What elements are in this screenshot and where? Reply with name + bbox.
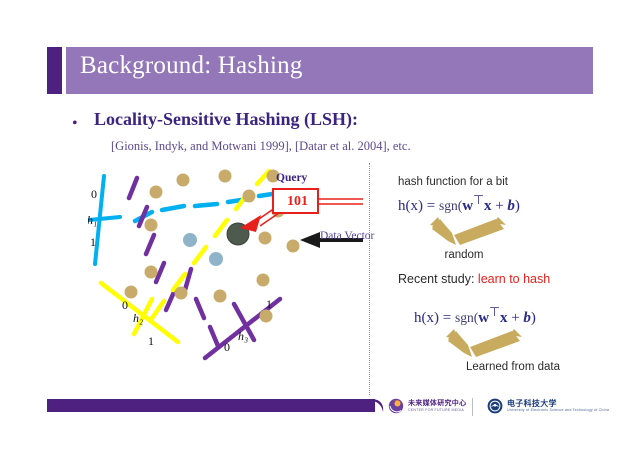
cfm-swirl-icon bbox=[388, 398, 404, 414]
learn-to-hash-panel: h(x) = sgn(w⊤x + b) Learned from data bbox=[398, 300, 628, 373]
logo1-chinese-name: 未来媒体研究中心 bbox=[408, 400, 466, 408]
formula2-w: w bbox=[478, 310, 489, 326]
formula2-lhs: h(x) bbox=[414, 310, 439, 326]
formula2-eq: = bbox=[443, 310, 451, 326]
hash-function-panel: hash function for a bit h(x) = sgn(w⊤x +… bbox=[398, 176, 628, 261]
learned-from-data-label: Learned from data bbox=[428, 361, 598, 373]
h3-bit-0: 0 bbox=[224, 340, 230, 354]
query-code-box: 101 bbox=[272, 188, 319, 214]
data-vector-label: Data Vector bbox=[320, 230, 374, 242]
bullet-heading: Locality-Sensitive Hashing (LSH): bbox=[94, 109, 358, 130]
logo2-english-name: University of Electronic Science and Tec… bbox=[507, 408, 609, 413]
citation-text: [Gionis, Indyk, and Motwani 1999], [Data… bbox=[111, 139, 411, 154]
formula2-close: ) bbox=[531, 310, 536, 326]
formula-lhs: h(x) bbox=[398, 198, 423, 214]
formula-x: x bbox=[484, 198, 492, 214]
logo1-english-name: CENTER FOR FUTURE MEDIA bbox=[408, 408, 466, 413]
formula-eq: = bbox=[427, 198, 435, 214]
logo-separator bbox=[472, 398, 473, 416]
vertical-divider bbox=[369, 163, 370, 395]
recent-study-line: Recent study: learn to hash bbox=[398, 272, 550, 286]
formula-sgn: sgn( bbox=[439, 198, 462, 213]
title-accent-bar bbox=[47, 47, 62, 94]
hash-function-caption: hash function for a bit bbox=[398, 176, 628, 188]
learn-to-hash-highlight: learn to hash bbox=[478, 272, 550, 286]
logo-center-for-future-media: 未来媒体研究中心 CENTER FOR FUTURE MEDIA bbox=[388, 398, 466, 414]
learned-arrows bbox=[414, 327, 628, 361]
query-label: Query bbox=[276, 172, 307, 184]
h3-bit-1: 1 bbox=[266, 297, 272, 311]
random-arrows bbox=[398, 215, 628, 249]
formula2-x: x bbox=[500, 310, 508, 326]
random-label: random bbox=[404, 249, 524, 261]
title-bar: Background: Hashing bbox=[66, 47, 593, 94]
h2-bit-1: 1 bbox=[148, 334, 154, 348]
formula2-b: b bbox=[523, 310, 531, 326]
formula-w: w bbox=[462, 198, 473, 214]
recent-study-prefix: Recent study: bbox=[398, 272, 474, 286]
hash-formula-learned: h(x) = sgn(w⊤x + b) bbox=[414, 304, 628, 327]
h1-bit-0: 0 bbox=[91, 187, 97, 201]
footer-bar bbox=[47, 399, 375, 412]
query-code: 101 bbox=[274, 190, 321, 216]
formula-plus: + bbox=[495, 198, 503, 214]
h1-bit-1: 1 bbox=[90, 235, 96, 249]
slide: Background: Hashing • Locality-Sensitive… bbox=[0, 0, 640, 452]
lsh-diagram: 0 1 h₁ 0 1 h₂ 1 0 h₃ bbox=[88, 168, 363, 363]
h2-bit-0: 0 bbox=[122, 298, 128, 312]
h2-label: h₂ bbox=[133, 311, 143, 325]
logo2-chinese-name: 电子科技大学 bbox=[507, 400, 609, 408]
logo-uestc: 电子科技大学 University of Electronic Science … bbox=[487, 398, 609, 414]
formula-close: ) bbox=[515, 198, 520, 214]
formula-b: b bbox=[507, 198, 515, 214]
h1-label: h₁ bbox=[88, 213, 97, 227]
formula2-plus: + bbox=[511, 310, 519, 326]
uestc-seal-icon bbox=[487, 398, 503, 414]
hash-formula-random: h(x) = sgn(w⊤x + b) bbox=[398, 192, 628, 215]
formula2-sgn: sgn( bbox=[455, 310, 478, 325]
bullet-marker: • bbox=[72, 115, 78, 133]
formula-transpose: ⊤ bbox=[473, 193, 484, 207]
page-title: Background: Hashing bbox=[80, 52, 303, 80]
h3-label: h₃ bbox=[238, 329, 248, 343]
formula2-transpose: ⊤ bbox=[489, 305, 500, 319]
